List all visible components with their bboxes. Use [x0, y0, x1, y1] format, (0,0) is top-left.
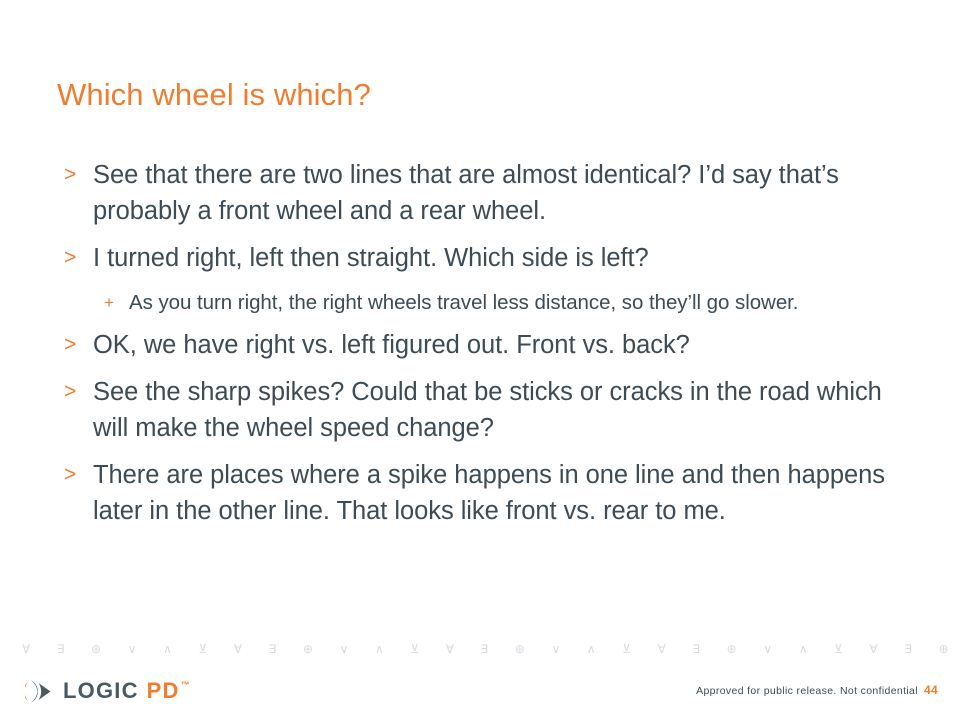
list-item-text: I turned right, left then straight. Whic…	[93, 240, 907, 276]
list-item: > There are places where a spike happens…	[57, 457, 907, 529]
logo-wordmark: LOGIC PD ™	[63, 679, 191, 703]
slide: Which wheel is which? > See that there a…	[0, 0, 960, 720]
list-item-text: There are places where a spike happens i…	[93, 457, 907, 529]
decorative-glyph-band: ∀ ∃ ⊕ ∨ ∧ ⊻ ∀ ∃ ⊕ ∨ ∧ ⊻ ∀ ∃ ⊕ ∨ ∧ ⊻ ∀ ∃ …	[0, 638, 960, 660]
list-item-text: See the sharp spikes? Could that be stic…	[93, 374, 907, 446]
bullet-marker-icon: >	[57, 457, 93, 493]
sub-list-item-text: As you turn right, the right wheels trav…	[129, 287, 907, 318]
bullet-marker-icon: >	[57, 157, 93, 193]
list-item: > See that there are two lines that are …	[57, 157, 907, 229]
list-item: > OK, we have right vs. left figured out…	[57, 327, 907, 363]
logic-pd-mark-icon	[25, 677, 54, 706]
sub-list-item: + As you turn right, the right wheels tr…	[102, 287, 907, 318]
list-item: > I turned right, left then straight. Wh…	[57, 240, 907, 276]
sub-bullet-marker-icon: +	[102, 287, 129, 318]
logo-name-secondary: PD	[147, 679, 180, 703]
list-item: > See the sharp spikes? Could that be st…	[57, 374, 907, 446]
bullet-list: > See that there are two lines that are …	[57, 157, 907, 540]
footer: Approved for public release. Not confide…	[696, 683, 938, 698]
bullet-marker-icon: >	[57, 327, 93, 363]
trademark-icon: ™	[181, 681, 191, 690]
page-number: 44	[924, 683, 938, 697]
release-note: Approved for public release. Not confide…	[696, 684, 918, 698]
logo: LOGIC PD ™	[25, 676, 191, 706]
logo-name-primary: LOGIC	[63, 679, 139, 703]
page-title: Which wheel is which?	[57, 76, 371, 114]
bullet-marker-icon: >	[57, 240, 93, 276]
list-item-text: OK, we have right vs. left figured out. …	[93, 327, 907, 363]
bullet-marker-icon: >	[57, 374, 93, 410]
list-item-text: See that there are two lines that are al…	[93, 157, 907, 229]
